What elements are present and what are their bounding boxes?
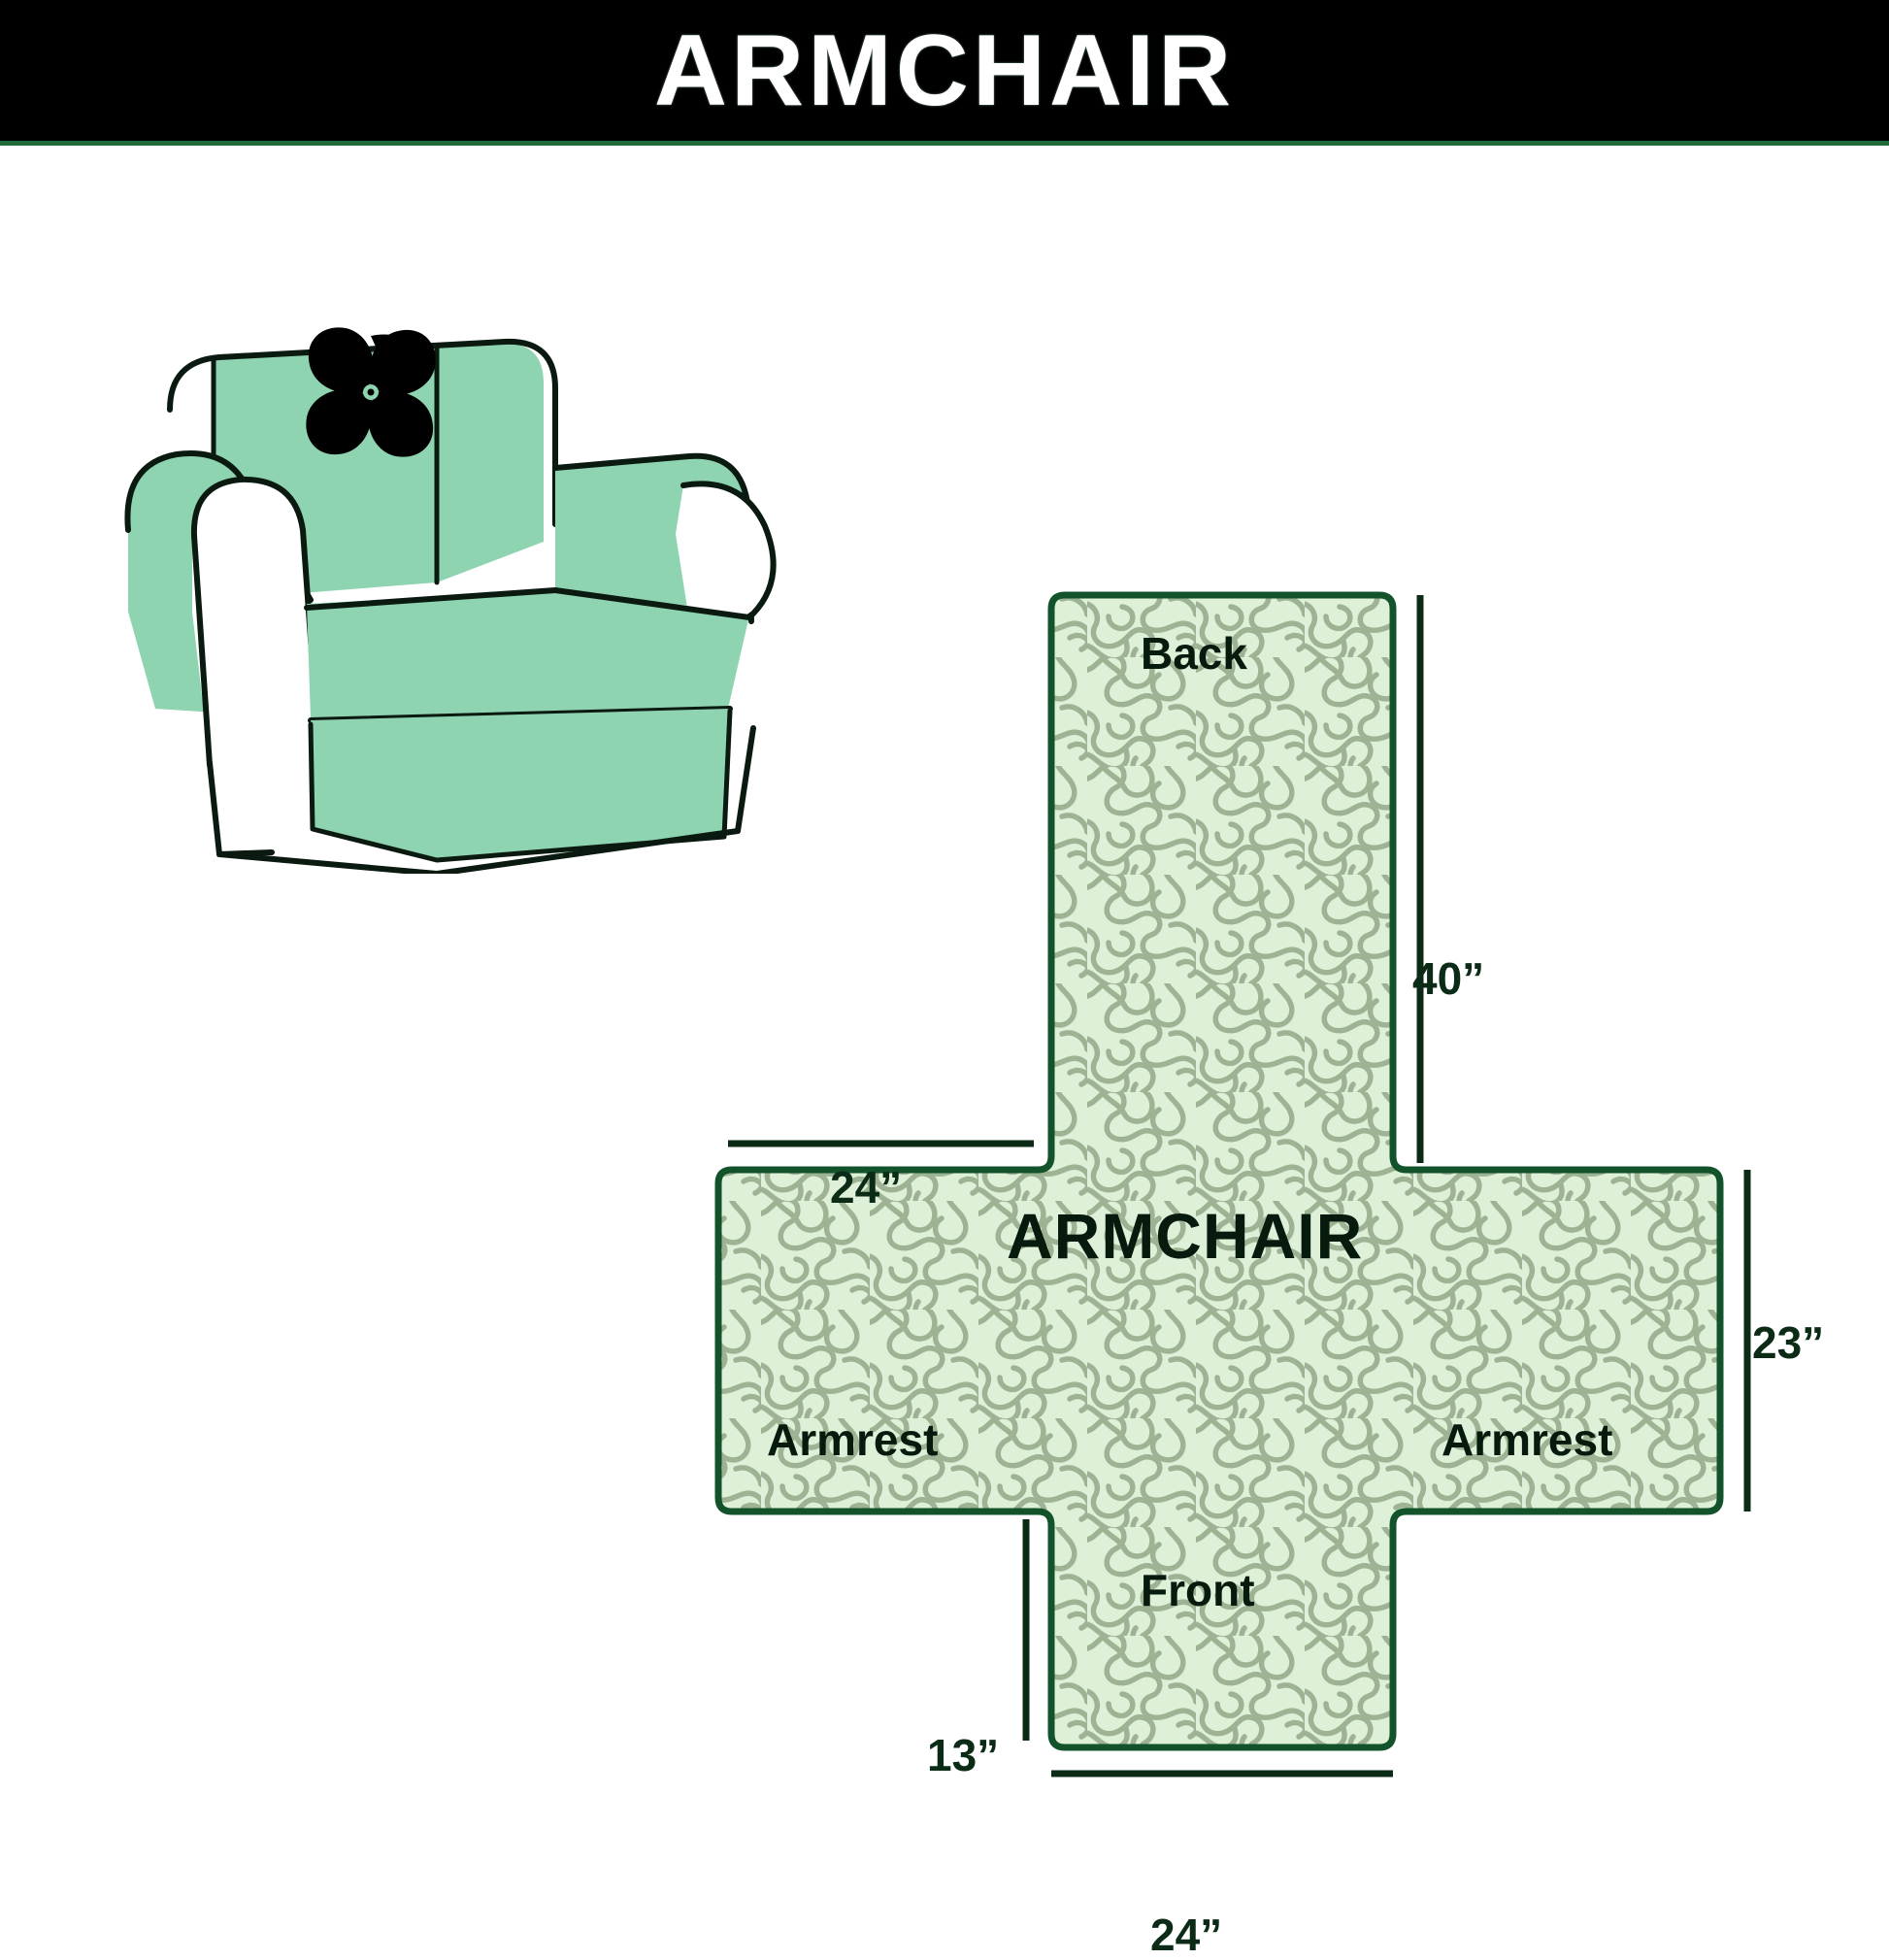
- page-title: ARMCHAIR: [654, 20, 1235, 121]
- dimension-label-front-drop: 13”: [927, 1733, 999, 1777]
- panel-label-armrest-right: Armrest: [1442, 1417, 1612, 1462]
- panel-label-armrest-left: Armrest: [767, 1417, 938, 1462]
- panel-label-front: Front: [1141, 1568, 1255, 1612]
- dimension-label-back-length: 40”: [1412, 956, 1484, 1001]
- diagram-center-label: ARMCHAIR: [1007, 1204, 1363, 1268]
- dimension-label-back-width: 24”: [830, 1165, 902, 1210]
- header-banner: ARMCHAIR: [0, 0, 1889, 146]
- dimension-label-armrest-depth: 23”: [1752, 1320, 1824, 1365]
- panel-label-back: Back: [1141, 631, 1247, 676]
- dimension-label-front-width: 24”: [1150, 1912, 1222, 1957]
- diagram-stage: .ol { fill:none; stroke:#0A1A10; stroke-…: [0, 150, 1889, 1889]
